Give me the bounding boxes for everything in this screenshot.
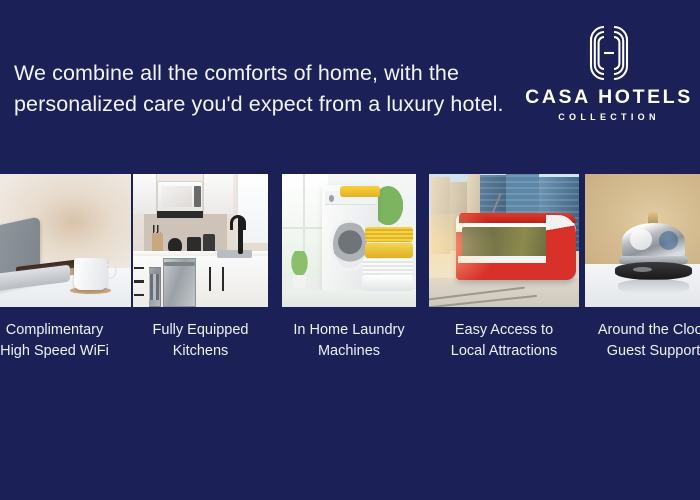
brand-subtitle: COLLECTION [521,112,697,122]
caption-line-1: Complimentary [0,320,131,341]
red-streetcar-downtown-photo [429,174,579,307]
feature-card-kitchen[interactable] [133,174,268,307]
feature-card-wifi[interactable] [0,174,131,307]
brand-logo[interactable]: CASA HOTELS COLLECTION [521,24,697,130]
page-title: We combine all the comforts of home, wit… [14,58,494,120]
casa-monogram-icon [574,24,644,82]
feature-card-laundry[interactable] [282,174,416,307]
white-kitchen-photo [133,174,268,307]
feature-caption-laundry: In Home Laundry Machines [282,320,416,366]
feature-caption-wifi: Complimentary High Speed WiFi [0,320,131,366]
caption-line-2: Machines [282,341,416,362]
caption-line-2: Local Attractions [429,341,579,362]
caption-line-2: Guest Support [585,341,700,362]
feature-caption-support: Around the Clock Guest Support [585,320,700,366]
promo-banner: We combine all the comforts of home, wit… [0,0,700,500]
caption-line-1: Fully Equipped [133,320,268,341]
caption-line-1: Easy Access to [429,320,579,341]
headline-line-1: We combine all the comforts of home, wit… [14,58,494,89]
feature-card-attractions[interactable] [429,174,579,307]
feature-card-support[interactable] [585,174,700,307]
feature-caption-attractions: Easy Access to Local Attractions [429,320,579,366]
headline-line-2: personalized care you'd expect from a lu… [14,89,494,120]
service-bell-photo [585,174,700,307]
feature-caption-kitchen: Fully Equipped Kitchens [133,320,268,366]
caption-line-1: Around the Clock [585,320,700,341]
caption-line-2: High Speed WiFi [0,341,131,362]
feature-card-row [0,174,700,308]
brand-name: CASA HOTELS [521,86,697,109]
washing-machine-and-towels-photo [282,174,416,307]
caption-line-1: In Home Laundry [282,320,416,341]
caption-line-2: Kitchens [133,341,268,362]
laptop-and-coffee-mug-photo [0,174,131,307]
